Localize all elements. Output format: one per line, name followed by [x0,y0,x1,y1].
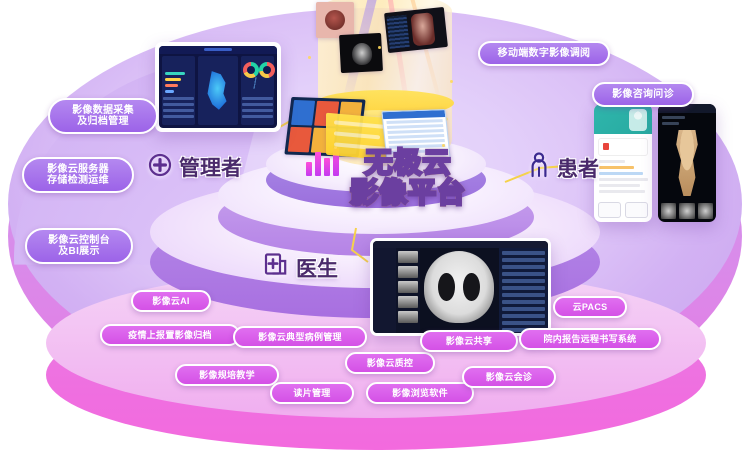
pill-p-epidemic[interactable]: 疫情上报置影像归档 [100,324,240,346]
pill-p-console[interactable]: 影像云控制台 及BI展示 [25,228,133,264]
pacs-viewer [370,238,551,336]
ultrasound-thumbnail [339,33,383,73]
radiology-thumbnail [384,7,448,53]
pill-p-share[interactable]: 影像云共享 [420,330,518,352]
title-line-2: 影像平台 [318,178,498,208]
role-doctor-label: 医生 [296,253,338,283]
role-admin-label: 管理者 [179,152,242,182]
role-patient[interactable]: 患者 [528,152,599,183]
pill-p-report[interactable]: 院内报告远程书写系统 [519,328,661,350]
circle-plus-icon [148,153,172,182]
document-plus-icon [263,252,289,283]
pill-p-mobile[interactable]: 移动端数字影像调阅 [478,41,610,66]
pill-p-collect[interactable]: 影像数据采集 及归档管理 [48,98,158,134]
pill-p-server[interactable]: 影像云服务器 存储检测运维 [22,157,134,193]
pill-p-reading[interactable]: 读片管理 [270,382,354,404]
endoscopy-thumbnail [316,2,354,38]
role-doctor[interactable]: 医生 [263,252,338,283]
pill-p-qc[interactable]: 影像云质控 [345,352,435,374]
person-icon [528,152,550,183]
pill-p-mdt[interactable]: 影像云会诊 [462,366,556,388]
pill-p-viewer[interactable]: 影像浏览软件 [366,382,474,404]
platform-title: 无极云 影像平台 [318,148,498,208]
pill-p-case[interactable]: 影像云典型病例管理 [233,326,367,348]
pill-p-teaching[interactable]: 影像规培教学 [175,364,279,386]
pill-p-ai[interactable]: 影像云AI [131,290,211,312]
role-patient-label: 患者 [557,153,599,183]
role-admin[interactable]: 管理者 [148,152,242,182]
pill-p-pacs[interactable]: 云PACS [553,296,627,318]
infographic-canvas: 无极云 影像平台 管理者 患者 [0,0,750,450]
title-line-1: 无极云 [318,148,498,178]
mobile-3d-phone [658,104,716,222]
pill-p-consult[interactable]: 影像咨询问诊 [592,82,694,107]
bi-monitor [155,42,281,132]
patient-app-phone [594,104,652,222]
